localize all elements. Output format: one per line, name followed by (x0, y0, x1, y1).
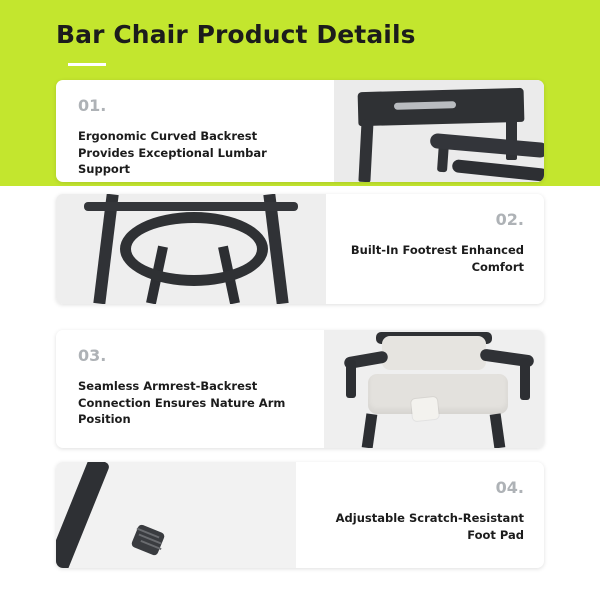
feature-card-4-description: Adjustable Scratch-Resistant Foot Pad (318, 510, 524, 543)
feature-card-4: 04. Adjustable Scratch-Resistant Foot Pa… (56, 462, 544, 568)
feature-card-4-number: 04. (496, 480, 524, 496)
feature-card-4-image (56, 462, 296, 568)
feature-card-3-number: 03. (78, 348, 304, 364)
feature-card-1-number: 01. (78, 98, 314, 114)
feature-card-1-text: 01. Ergonomic Curved Backrest Provides E… (56, 80, 334, 182)
armrest-post-right-shape (520, 358, 530, 400)
armrest-post-left-shape (346, 360, 356, 398)
feature-card-2-image (56, 194, 326, 304)
chair-leg-left-shape (362, 413, 378, 448)
armrest-lower-shape (452, 159, 544, 182)
feature-card-3: 03. Seamless Armrest-Backrest Connection… (56, 330, 544, 448)
feature-card-1-description: Ergonomic Curved Backrest Provides Excep… (78, 128, 314, 178)
backrest-post-left-shape (358, 120, 373, 182)
page-title: Bar Chair Product Details (56, 20, 416, 49)
product-details-page: Bar Chair Product Details 01. Ergonomic … (0, 0, 600, 600)
footrest-ring-shape (120, 212, 268, 286)
feature-card-1: 01. Ergonomic Curved Backrest Provides E… (56, 80, 544, 182)
feature-card-3-image (324, 330, 544, 448)
chair-leg-shape (56, 462, 110, 568)
seat-underframe-bar-shape (84, 202, 298, 211)
chair-leg-right-shape (490, 413, 506, 448)
feature-card-3-text: 03. Seamless Armrest-Backrest Connection… (56, 330, 324, 448)
feature-card-2-number: 02. (496, 212, 524, 228)
feature-card-2-text: 02. Built-In Footrest Enhanced Comfort (326, 194, 544, 304)
feature-card-3-description: Seamless Armrest-Backrest Connection Ens… (78, 378, 304, 428)
feature-card-2-description: Built-In Footrest Enhanced Comfort (348, 242, 524, 275)
cushion-tie-shape (411, 397, 439, 422)
feature-card-2: 02. Built-In Footrest Enhanced Comfort (56, 194, 544, 304)
back-cushion-shape (382, 336, 486, 370)
title-underline-rule (68, 63, 106, 66)
feature-card-1-image (334, 80, 544, 182)
feature-card-4-text: 04. Adjustable Scratch-Resistant Foot Pa… (296, 462, 544, 568)
